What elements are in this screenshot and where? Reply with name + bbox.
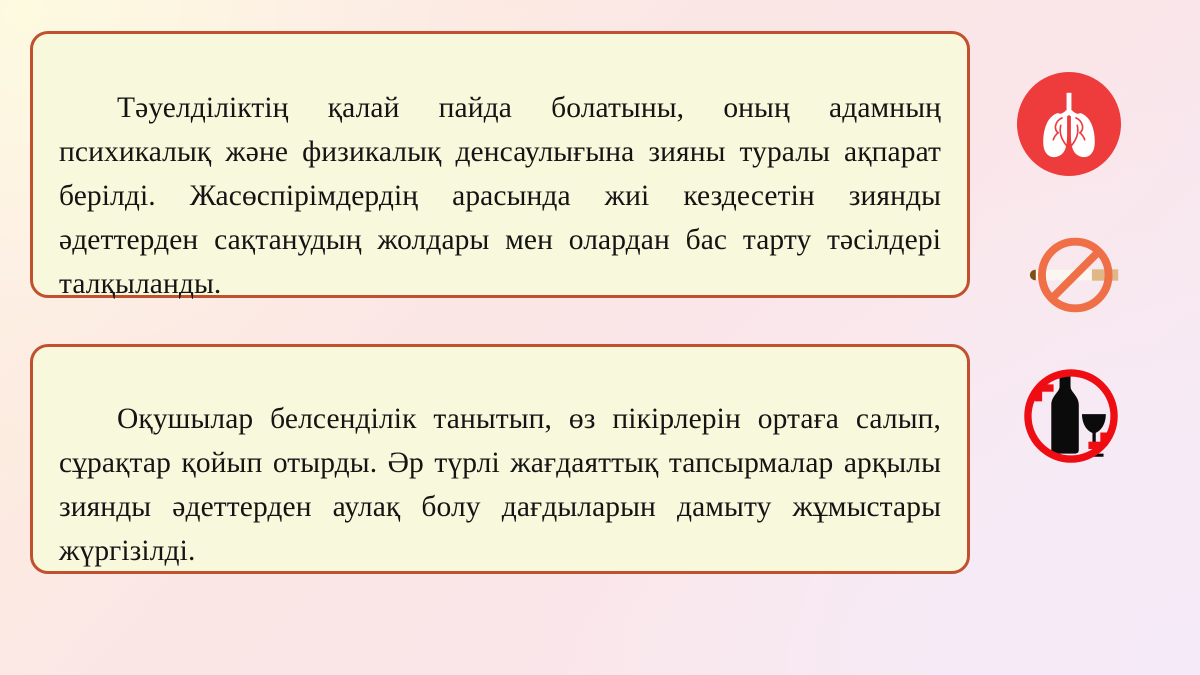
slide-canvas: Тәуелділіктің қалай пайда болатыны, оның…	[0, 0, 1200, 675]
information-card: Тәуелділіктің қалай пайда болатыны, оның…	[30, 31, 970, 298]
no-smoking-icon	[1013, 218, 1127, 332]
activity-card: Оқушылар белсенділік танытып, өз пікірле…	[30, 344, 970, 574]
information-card-text: Тәуелділіктің қалай пайда болатыны, оның…	[33, 64, 967, 306]
no-alcohol-icon	[1016, 361, 1126, 471]
lungs-icon	[1017, 72, 1121, 176]
activity-card-text: Оқушылар белсенділік танытып, өз пікірле…	[33, 377, 967, 573]
